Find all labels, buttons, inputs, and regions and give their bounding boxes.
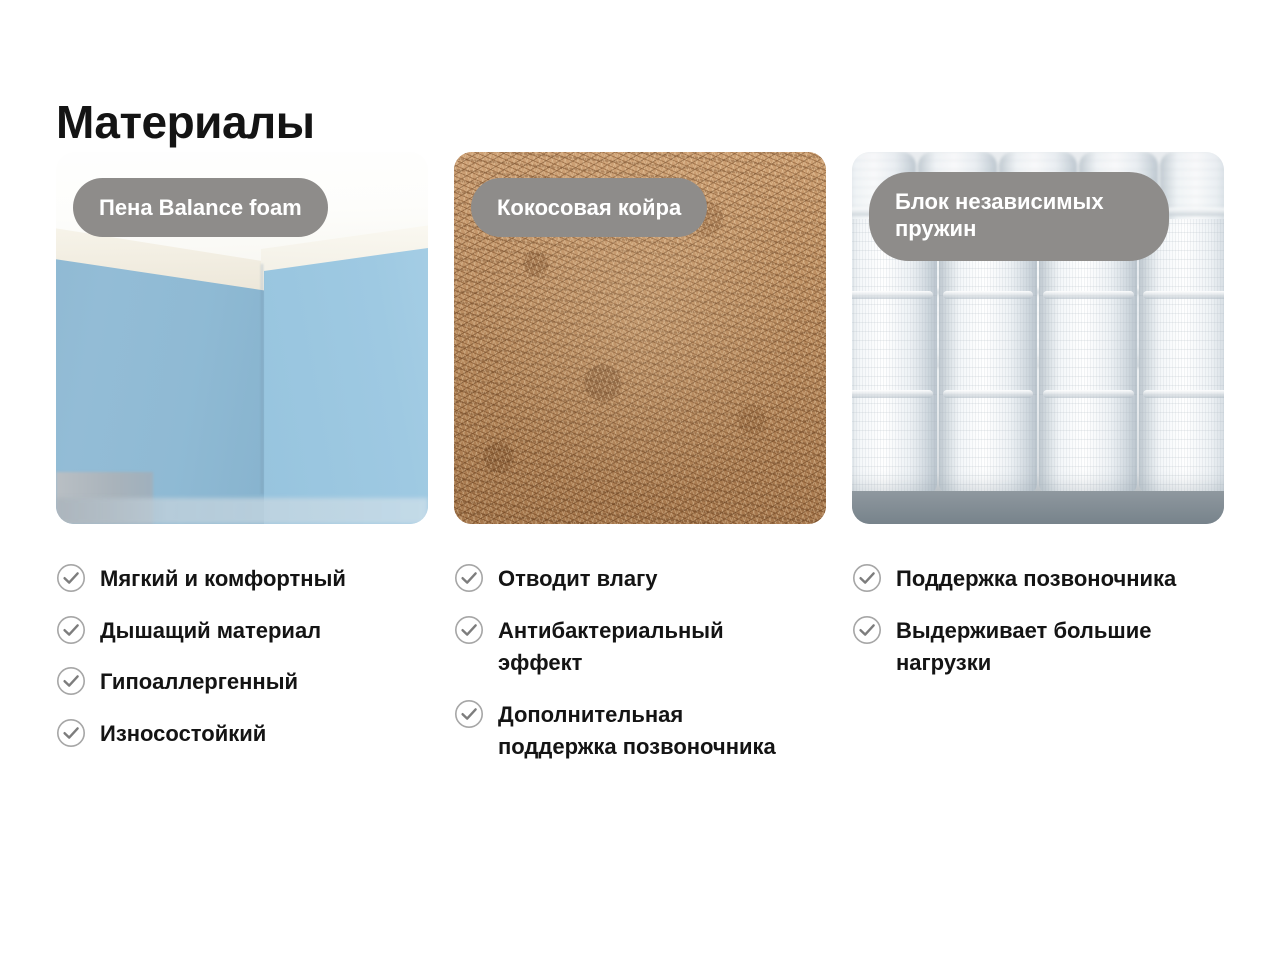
- materials-slide: Материалы Пена Balance foam Кокосовая ко…: [0, 0, 1280, 960]
- material-card-springs[interactable]: Блок независимых пружин: [852, 152, 1224, 524]
- check-circle-icon: [56, 666, 86, 696]
- list-item: Отводит влагу: [454, 562, 826, 596]
- feature-label: Антибактериальный эффект: [498, 614, 798, 680]
- list-item: Антибактериальный эффект: [454, 614, 826, 680]
- spring-block-base: [852, 491, 1224, 524]
- list-item: Дышащий материал: [56, 614, 428, 648]
- feature-label: Дополнительная поддержка позвоночника: [498, 698, 798, 764]
- list-item: Дополнительная поддержка позвоночника: [454, 698, 826, 764]
- feature-label: Мягкий и комфортный: [100, 562, 346, 596]
- check-circle-icon: [454, 563, 484, 593]
- feature-label: Износостойкий: [100, 717, 266, 751]
- check-circle-icon: [56, 563, 86, 593]
- feature-label: Дышащий материал: [100, 614, 321, 648]
- feature-column-coir: Отводит влагу Антибактериальный эффект Д…: [454, 562, 826, 782]
- check-circle-icon: [852, 615, 882, 645]
- list-item: Износостойкий: [56, 717, 428, 751]
- spring-unit: [1139, 219, 1224, 494]
- foam-face-right: [264, 242, 428, 524]
- check-circle-icon: [852, 563, 882, 593]
- material-card-foam[interactable]: Пена Balance foam: [56, 152, 428, 524]
- material-cards-row: Пена Balance foam Кокосовая койра: [56, 152, 1226, 524]
- list-item: Выдерживает большие нагрузки: [852, 614, 1224, 680]
- feature-column-springs: Поддержка позвоночника Выдерживает больш…: [852, 562, 1224, 782]
- list-item: Гипоаллергенный: [56, 665, 428, 699]
- check-circle-icon: [454, 615, 484, 645]
- card-badge-springs: Блок независимых пружин: [869, 172, 1169, 261]
- check-circle-icon: [56, 718, 86, 748]
- material-card-coir[interactable]: Кокосовая койра: [454, 152, 826, 524]
- card-badge-foam: Пена Balance foam: [73, 178, 328, 237]
- list-item: Мягкий и комфортный: [56, 562, 428, 596]
- check-circle-icon: [454, 699, 484, 729]
- foam-corner-edge: [261, 264, 263, 495]
- feature-label: Поддержка позвоночника: [896, 562, 1176, 596]
- list-item: Поддержка позвоночника: [852, 562, 1224, 596]
- card-badge-coir: Кокосовая койра: [471, 178, 707, 237]
- foam-floor-highlight: [56, 498, 428, 524]
- feature-column-foam: Мягкий и комфортный Дышащий материал Гип…: [56, 562, 428, 782]
- check-circle-icon: [56, 615, 86, 645]
- feature-label: Отводит влагу: [498, 562, 658, 596]
- feature-label: Выдерживает большие нагрузки: [896, 614, 1196, 680]
- feature-label: Гипоаллергенный: [100, 665, 298, 699]
- page-title: Материалы: [56, 99, 315, 145]
- feature-lists: Мягкий и комфортный Дышащий материал Гип…: [56, 562, 1236, 782]
